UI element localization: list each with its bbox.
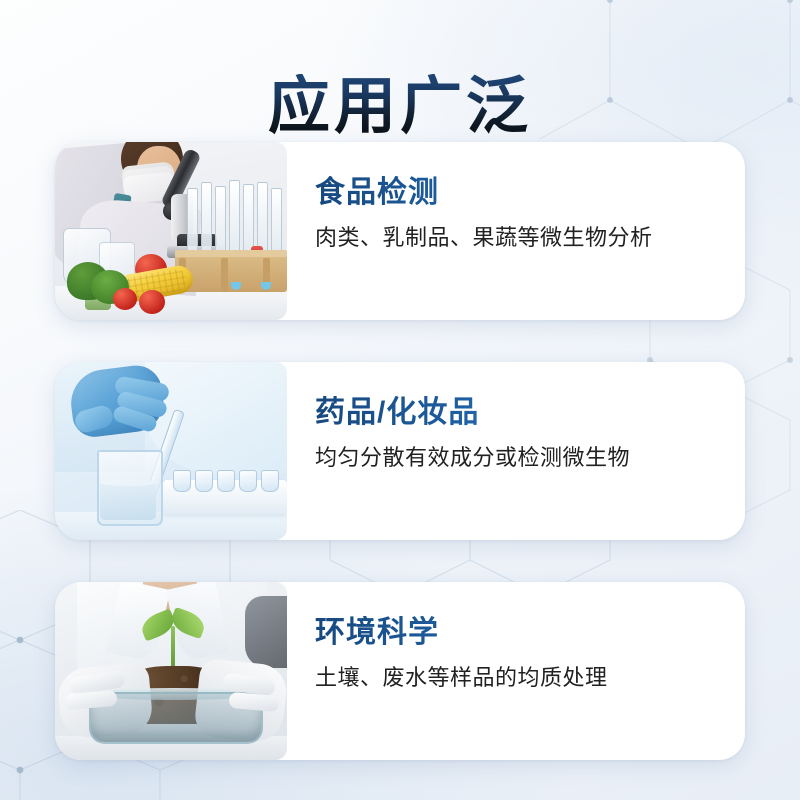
page-title: 应用广泛 bbox=[268, 74, 532, 139]
card-heading: 环境科学 bbox=[315, 616, 719, 651]
card-text-body: 药品/化妆品 均匀分散有效成分或检测微生物 bbox=[287, 362, 745, 540]
application-card-pharma-cosmetics[interactable]: 药品/化妆品 均匀分散有效成分或检测微生物 bbox=[55, 362, 745, 540]
card-description: 土壤、废水等样品的均质处理 bbox=[315, 663, 719, 693]
card-description: 肉类、乳制品、果蔬等微生物分析 bbox=[315, 223, 719, 253]
promo-page: 应用广泛 bbox=[0, 0, 800, 800]
card-description: 均匀分散有效成分或检测微生物 bbox=[315, 443, 719, 473]
card-heading: 食品检测 bbox=[315, 176, 719, 211]
gloved-hand-pipette-beaker-photo bbox=[55, 362, 287, 540]
lab-technician-microscope-vegetables-photo bbox=[55, 142, 287, 320]
hands-petri-dish-seedling-soil-photo bbox=[55, 582, 287, 760]
card-text-body: 环境科学 土壤、废水等样品的均质处理 bbox=[287, 582, 745, 760]
application-card-environmental-science[interactable]: 环境科学 土壤、废水等样品的均质处理 bbox=[55, 582, 745, 760]
card-heading: 药品/化妆品 bbox=[315, 396, 719, 431]
card-text-body: 食品检测 肉类、乳制品、果蔬等微生物分析 bbox=[287, 142, 745, 320]
application-card-food-testing[interactable]: 食品检测 肉类、乳制品、果蔬等微生物分析 bbox=[55, 142, 745, 320]
